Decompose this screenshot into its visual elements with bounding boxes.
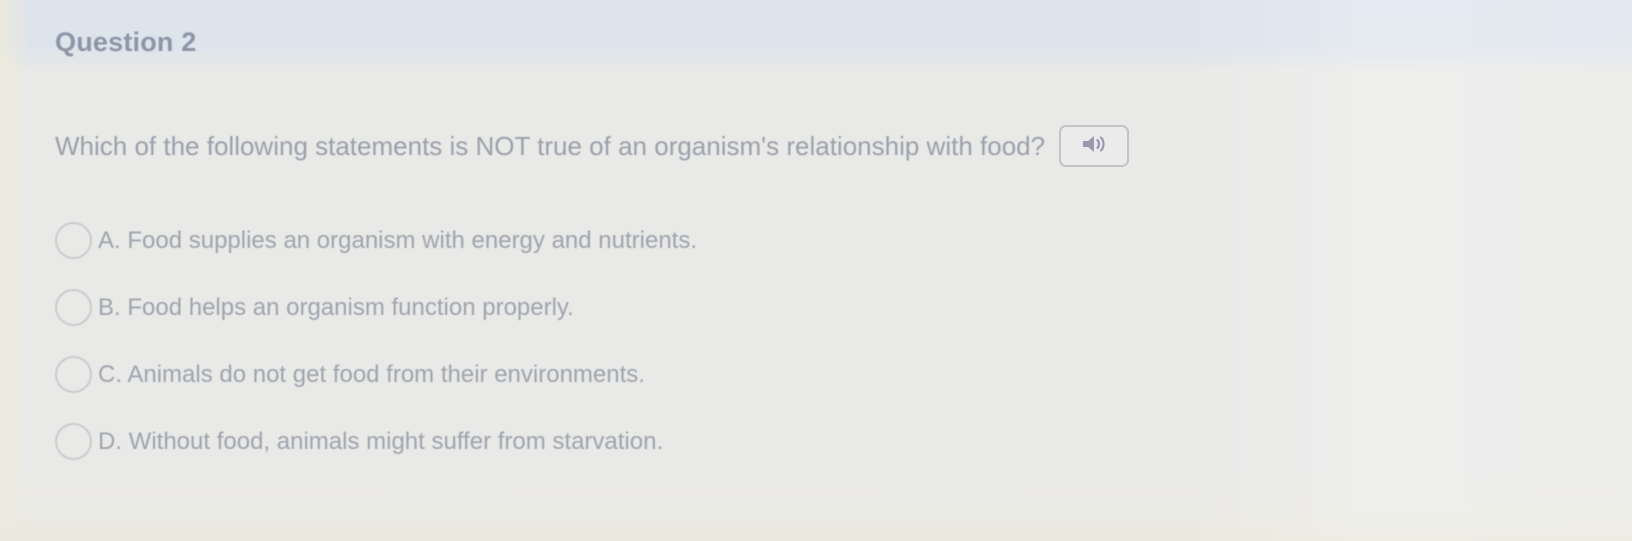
option-label-c: C. Animals do not get food from their en… bbox=[98, 361, 645, 389]
option-row-c[interactable]: C. Animals do not get food from their en… bbox=[55, 341, 1355, 408]
radio-button-b[interactable] bbox=[55, 289, 92, 326]
option-row-b[interactable]: B. Food helps an organism function prope… bbox=[55, 274, 1355, 341]
radio-button-a[interactable] bbox=[55, 222, 92, 259]
option-label-b: B. Food helps an organism function prope… bbox=[98, 294, 574, 322]
radio-button-d[interactable] bbox=[55, 423, 92, 460]
question-prompt-text: Which of the following statements is NOT… bbox=[55, 131, 1045, 162]
question-content: Question 2 Which of the following statem… bbox=[0, 0, 1632, 541]
answer-options-list: A. Food supplies an organism with energy… bbox=[55, 207, 1355, 475]
speaker-icon bbox=[1080, 133, 1108, 160]
option-label-a: A. Food supplies an organism with energy… bbox=[98, 227, 697, 255]
option-label-d: D. Without food, animals might suffer fr… bbox=[98, 428, 663, 456]
radio-button-c[interactable] bbox=[55, 356, 92, 393]
page-title: Question 2 bbox=[55, 27, 197, 58]
option-row-d[interactable]: D. Without food, animals might suffer fr… bbox=[55, 408, 1355, 475]
read-aloud-button[interactable] bbox=[1059, 125, 1129, 167]
question-screen: Question 2 Which of the following statem… bbox=[0, 0, 1632, 541]
question-prompt-row: Which of the following statements is NOT… bbox=[55, 125, 1129, 167]
option-row-a[interactable]: A. Food supplies an organism with energy… bbox=[55, 207, 1355, 274]
